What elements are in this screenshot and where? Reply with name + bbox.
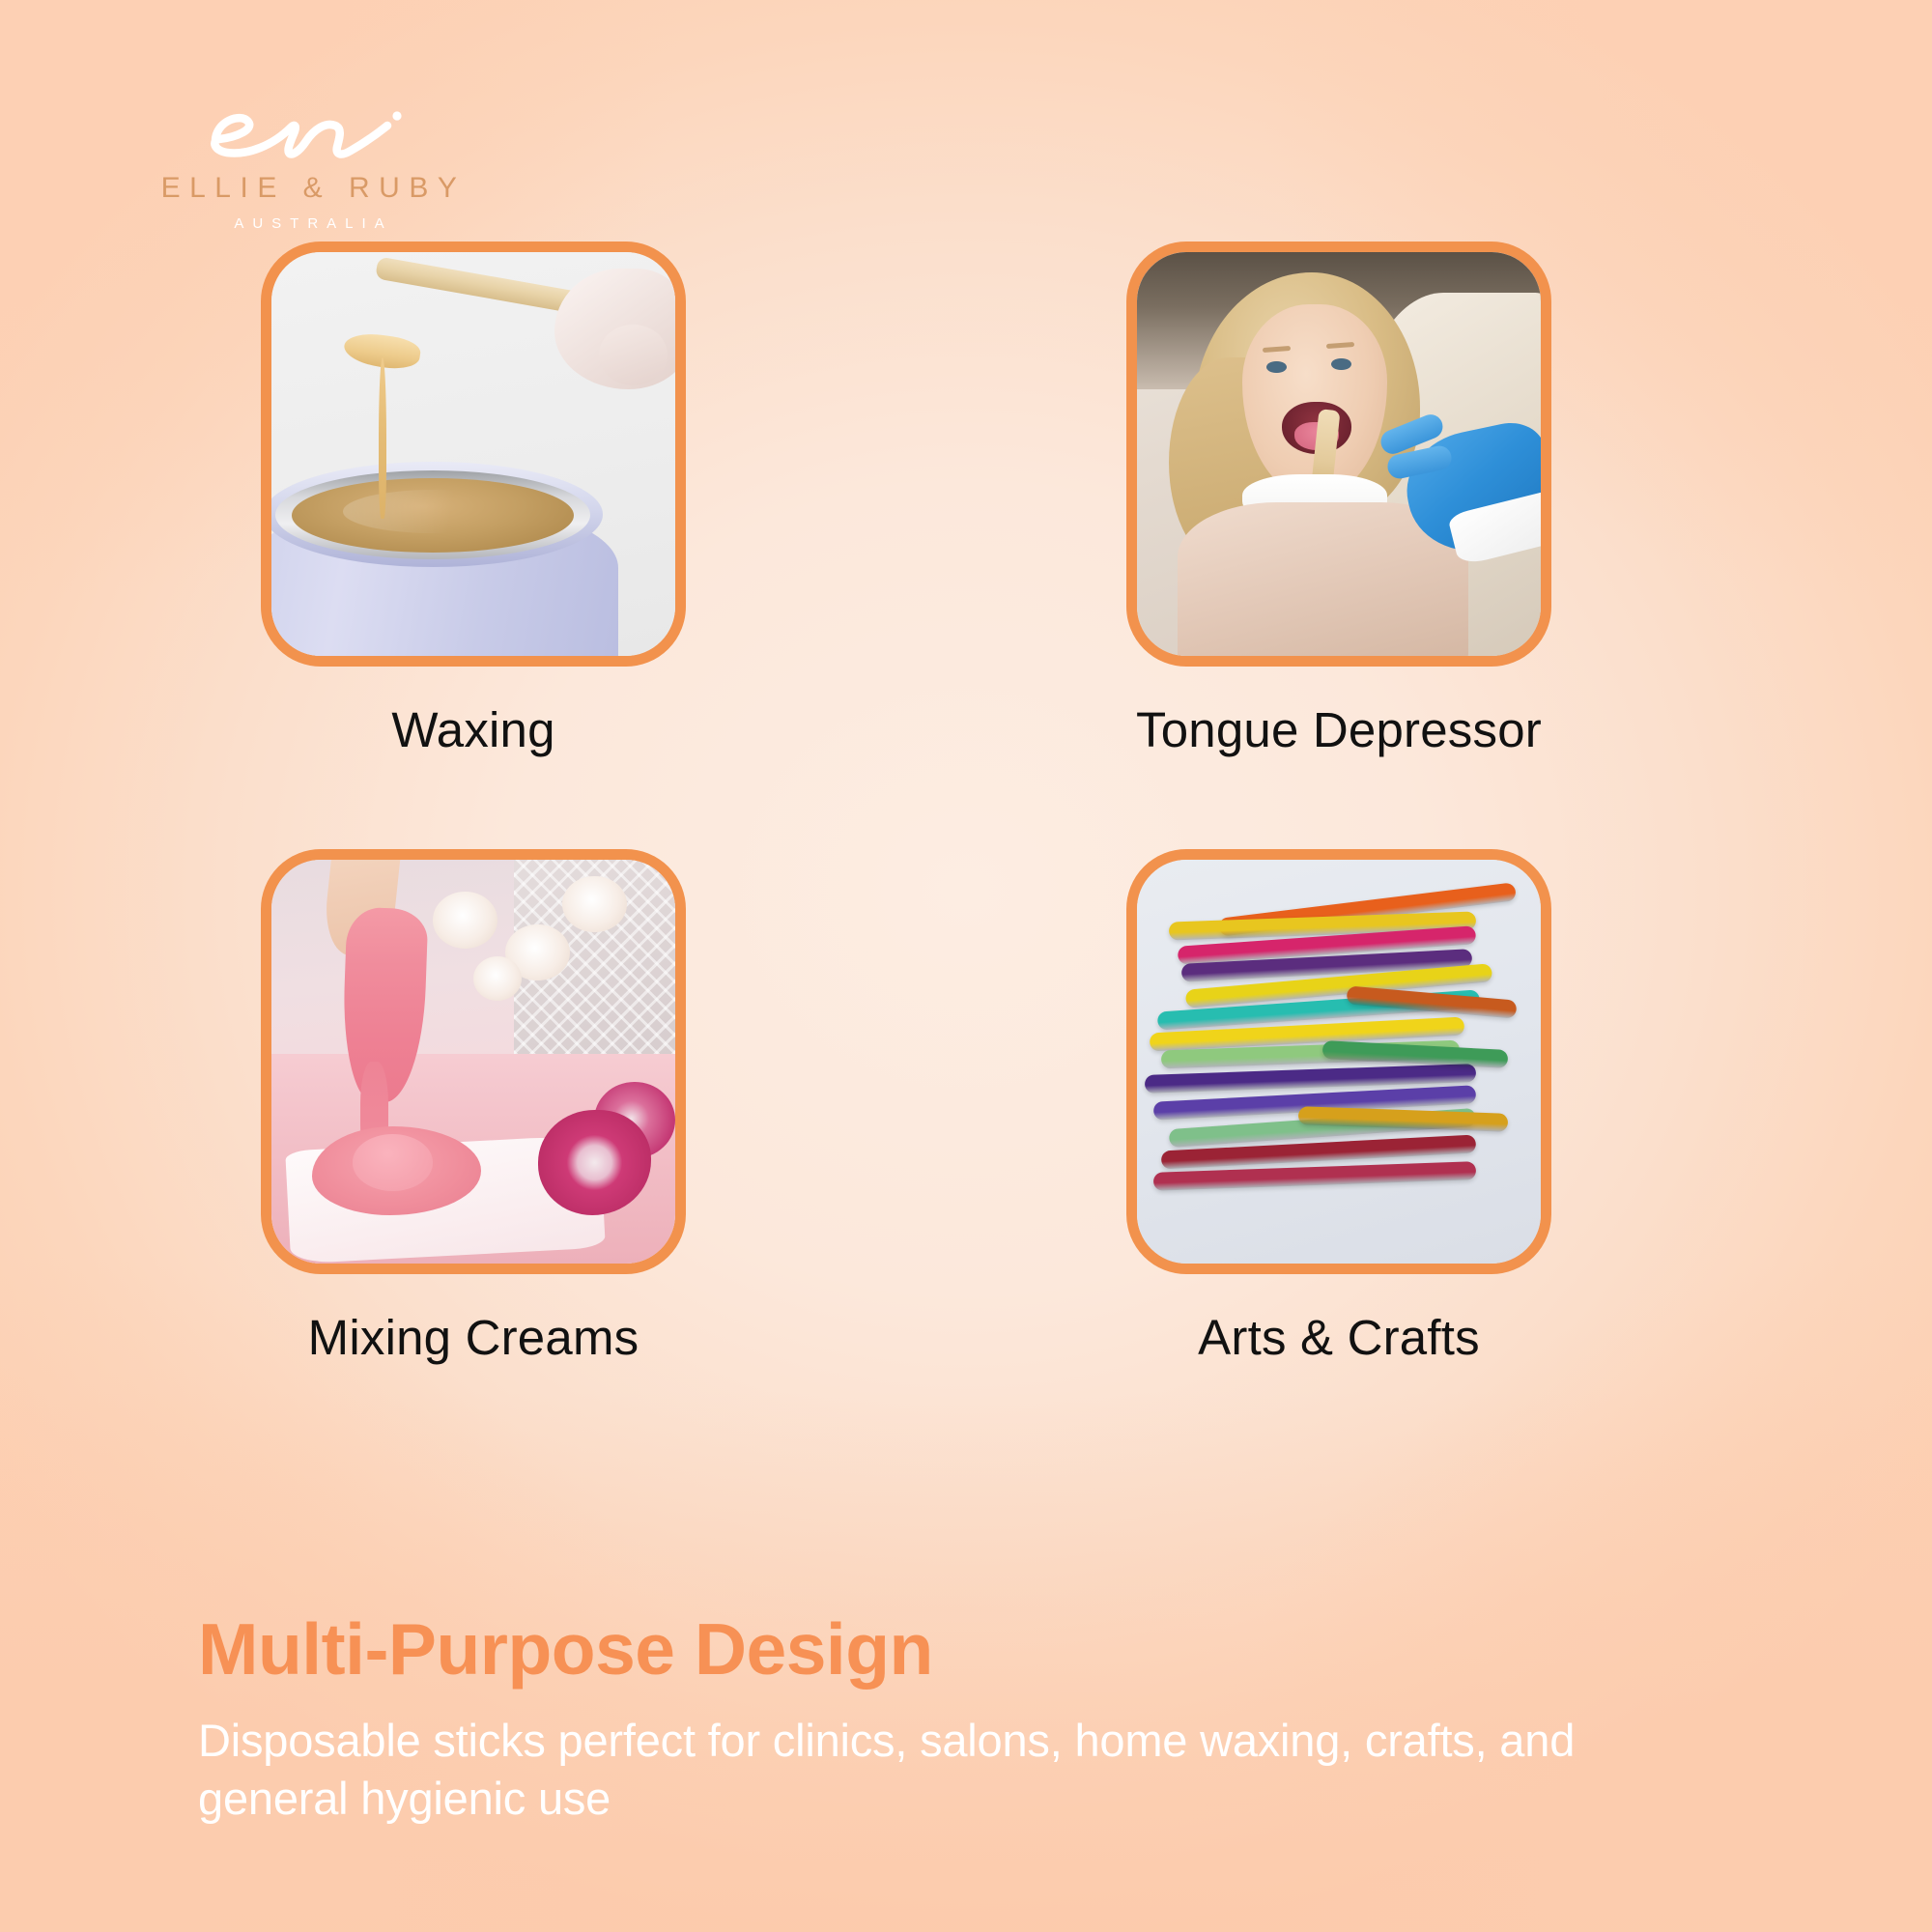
feature-card-arts-crafts[interactable]: Arts & Crafts [1126, 849, 1551, 1366]
page-subline: Disposable sticks perfect for clinics, s… [198, 1712, 1705, 1828]
waxing-photo [261, 241, 686, 667]
mixing-creams-photo [261, 849, 686, 1274]
arts-crafts-photo [1126, 849, 1551, 1274]
feature-caption-waxing: Waxing [261, 701, 686, 758]
feature-card-waxing[interactable]: Waxing [261, 241, 686, 758]
page-headline: Multi-Purpose Design [198, 1607, 933, 1690]
brand-region: AUSTRALIA [135, 215, 483, 232]
feature-card-mixing-creams[interactable]: Mixing Creams [261, 849, 686, 1366]
feature-caption-tongue-depressor: Tongue Depressor [1126, 701, 1551, 758]
feature-card-tongue-depressor[interactable]: Tongue Depressor [1126, 241, 1551, 758]
brand-logo: ELLIE & RUBY AUSTRALIA [135, 97, 483, 232]
brand-name: ELLIE & RUBY [135, 172, 483, 205]
feature-caption-mixing-creams: Mixing Creams [261, 1309, 686, 1366]
er-monogram-icon [135, 97, 483, 166]
tongue-depressor-photo [1126, 241, 1551, 667]
feature-grid: Waxing [261, 241, 1671, 1366]
feature-caption-arts-crafts: Arts & Crafts [1126, 1309, 1551, 1366]
infographic-page: ELLIE & RUBY AUSTRALIA Waxi [0, 0, 1932, 1932]
